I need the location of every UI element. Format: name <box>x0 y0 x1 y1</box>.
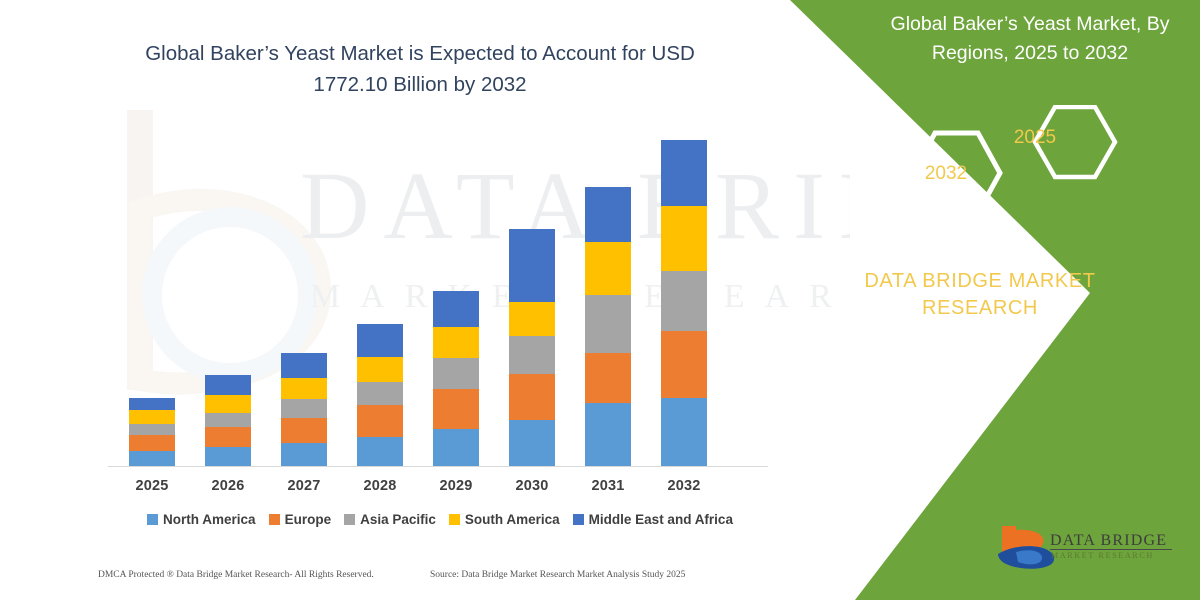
bar-segment[interactable] <box>357 437 403 466</box>
bar-segment[interactable] <box>585 295 631 353</box>
chart-axis-line <box>108 466 768 467</box>
x-axis-tick-2025: 2025 <box>112 478 192 494</box>
bar-segment[interactable] <box>129 410 175 425</box>
x-axis-tick-2029: 2029 <box>416 478 496 494</box>
bar-segment[interactable] <box>661 331 707 397</box>
bar-segment[interactable] <box>205 395 251 413</box>
chart-plot-area <box>110 140 770 466</box>
hex-label-2032: 2032 <box>911 163 981 185</box>
bar-segment[interactable] <box>281 353 327 378</box>
bar-column-2030[interactable] <box>509 229 555 466</box>
bar-segment[interactable] <box>585 353 631 402</box>
bar-segment[interactable] <box>585 403 631 466</box>
bar-segment[interactable] <box>281 378 327 399</box>
legend-item[interactable]: Asia Pacific <box>344 512 436 527</box>
bar-segment[interactable] <box>433 358 479 389</box>
bar-segment[interactable] <box>357 405 403 437</box>
logo-wordmark: DATA BRIDGE <box>1050 532 1167 550</box>
bar-column-2032[interactable] <box>661 140 707 466</box>
chart-legend: North AmericaEuropeAsia PacificSouth Ame… <box>110 512 770 527</box>
x-axis-tick-2028: 2028 <box>340 478 420 494</box>
bar-segment[interactable] <box>205 413 251 428</box>
logo-divider <box>1050 549 1172 550</box>
legend-label: South America <box>465 512 560 527</box>
bar-segment[interactable] <box>205 427 251 447</box>
bar-segment[interactable] <box>357 357 403 382</box>
legend-item[interactable]: Europe <box>269 512 332 527</box>
bar-column-2025[interactable] <box>129 398 175 466</box>
bar-segment[interactable] <box>509 374 555 420</box>
panel-brand-text: DATA BRIDGE MARKET RESEARCH <box>815 268 1145 322</box>
bar-column-2027[interactable] <box>281 353 327 466</box>
bar-segment[interactable] <box>433 327 479 358</box>
legend-item[interactable]: North America <box>147 512 256 527</box>
bar-segment[interactable] <box>281 399 327 418</box>
legend-swatch-icon <box>573 514 584 525</box>
bar-segment[interactable] <box>585 242 631 296</box>
bar-segment[interactable] <box>509 302 555 336</box>
bar-segment[interactable] <box>205 375 251 395</box>
panel-title: Global Baker’s Yeast Market, By Regions,… <box>870 10 1190 68</box>
legend-swatch-icon <box>344 514 355 525</box>
bar-segment[interactable] <box>661 271 707 331</box>
bar-column-2029[interactable] <box>433 291 479 466</box>
bar-segment[interactable] <box>433 291 479 328</box>
bar-segment[interactable] <box>281 418 327 443</box>
legend-label: Asia Pacific <box>360 512 436 527</box>
logo-tagline: MARKET RESEARCH <box>1051 551 1154 560</box>
bar-column-2028[interactable] <box>357 324 403 466</box>
legend-label: North America <box>163 512 256 527</box>
legend-label: Middle East and Africa <box>589 512 733 527</box>
bar-segment[interactable] <box>661 140 707 206</box>
data-bridge-logo-icon <box>990 520 1190 580</box>
legend-label: Europe <box>285 512 332 527</box>
bar-segment[interactable] <box>357 382 403 405</box>
x-axis-tick-2026: 2026 <box>188 478 268 494</box>
bar-segment[interactable] <box>509 229 555 302</box>
footer-copyright: DMCA Protected ® Data Bridge Market Rese… <box>98 570 374 580</box>
legend-item[interactable]: Middle East and Africa <box>573 512 733 527</box>
legend-item[interactable]: South America <box>449 512 560 527</box>
bar-segment[interactable] <box>129 435 175 451</box>
hex-label-2025: 2025 <box>1000 127 1070 149</box>
bar-segment[interactable] <box>661 206 707 271</box>
bar-segment[interactable] <box>509 420 555 466</box>
x-axis-tick-2031: 2031 <box>568 478 648 494</box>
legend-swatch-icon <box>449 514 460 525</box>
bar-segment[interactable] <box>509 336 555 374</box>
x-axis-tick-2027: 2027 <box>264 478 344 494</box>
infographic-canvas: DATA BRIDGE MARKET RESEARCH Global Baker… <box>0 0 1200 600</box>
bar-segment[interactable] <box>129 398 175 410</box>
bar-segment[interactable] <box>357 324 403 357</box>
page-title: Global Baker’s Yeast Market is Expected … <box>110 38 730 100</box>
bar-segment[interactable] <box>129 424 175 434</box>
bar-segment[interactable] <box>585 187 631 242</box>
legend-swatch-icon <box>147 514 158 525</box>
bar-column-2031[interactable] <box>585 187 631 466</box>
bar-segment[interactable] <box>129 451 175 466</box>
footer-source: Source: Data Bridge Market Research Mark… <box>430 570 685 580</box>
bar-segment[interactable] <box>433 429 479 466</box>
x-axis-tick-2032: 2032 <box>644 478 724 494</box>
hexagon-group: 2032 2025 <box>890 105 1190 235</box>
legend-swatch-icon <box>269 514 280 525</box>
bar-segment[interactable] <box>433 389 479 429</box>
x-axis-tick-2030: 2030 <box>492 478 572 494</box>
bar-segment[interactable] <box>661 398 707 466</box>
bar-segment[interactable] <box>281 443 327 466</box>
bar-segment[interactable] <box>205 447 251 466</box>
bar-column-2026[interactable] <box>205 375 251 466</box>
